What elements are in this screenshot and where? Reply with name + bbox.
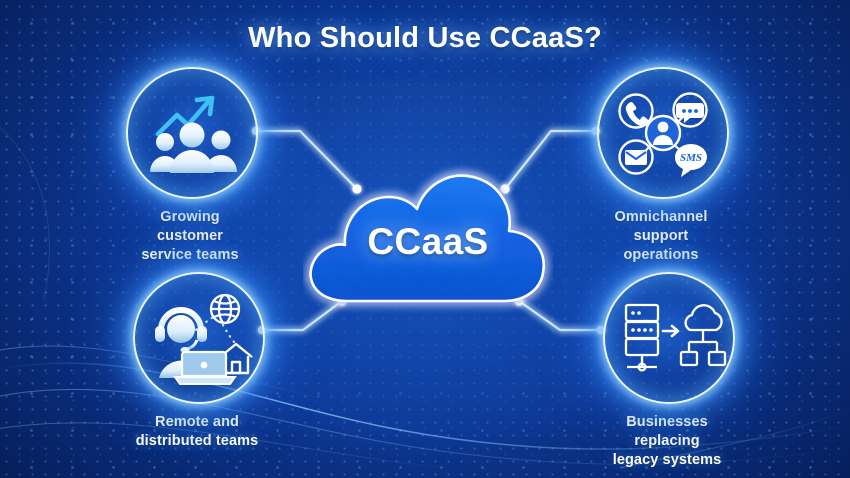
caption-line-1: Businesses replacing bbox=[603, 413, 731, 451]
sms-label: SMS bbox=[680, 152, 702, 164]
infographic-canvas: Who Should Use CCaaS? CCaaS bbox=[0, 0, 850, 478]
node-caption: Growing customer service teams bbox=[126, 208, 254, 265]
caption-line-1: Remote and bbox=[133, 413, 261, 432]
node-caption: Businesses replacing legacy systems bbox=[603, 413, 731, 470]
node-ring bbox=[603, 272, 735, 404]
caption-line-2: operations bbox=[597, 246, 725, 265]
omnichannel-icon: SMS bbox=[599, 69, 727, 197]
caption-line-2: legacy systems bbox=[603, 451, 731, 470]
cloud-label: CCaaS bbox=[303, 221, 553, 263]
sidebar-item-remote-distributed-teams[interactable]: Remote and distributed teams bbox=[133, 272, 261, 451]
arrow-right-icon bbox=[663, 326, 678, 336]
page-title: Who Should Use CCaaS? bbox=[0, 22, 850, 55]
caption-line-2: distributed teams bbox=[133, 432, 261, 451]
node-ring bbox=[126, 67, 258, 199]
caption-line-2: service teams bbox=[126, 246, 254, 265]
sidebar-item-growing-customer-service-teams[interactable]: Growing customer service teams bbox=[126, 67, 254, 265]
caption-line-1: Growing customer bbox=[126, 208, 254, 246]
chat-icon bbox=[674, 94, 707, 127]
globe-icon bbox=[211, 295, 239, 323]
server-to-cloud-icon bbox=[605, 274, 733, 402]
sidebar-item-omnichannel-support-operations[interactable]: SMS Omnichannel support operations bbox=[597, 67, 725, 265]
sidebar-item-businesses-replacing-legacy-systems[interactable]: Businesses replacing legacy systems bbox=[603, 272, 731, 470]
center-cloud[interactable]: CCaaS bbox=[303, 163, 553, 313]
node-ring: SMS bbox=[597, 67, 729, 199]
cloud-network-icon bbox=[681, 305, 725, 365]
remote-agent-icon bbox=[135, 274, 263, 402]
caption-line-1: Omnichannel support bbox=[597, 208, 725, 246]
server-rack-icon bbox=[626, 305, 658, 370]
node-caption: Remote and distributed teams bbox=[133, 413, 261, 451]
people-growth-icon bbox=[128, 69, 256, 197]
node-caption: Omnichannel support operations bbox=[597, 208, 725, 265]
node-ring bbox=[133, 272, 265, 404]
person-icon bbox=[646, 116, 680, 150]
laptop-icon bbox=[175, 352, 235, 384]
phone-icon bbox=[620, 95, 653, 128]
sms-bubble-icon: SMS bbox=[675, 144, 707, 177]
envelope-icon bbox=[620, 141, 653, 174]
